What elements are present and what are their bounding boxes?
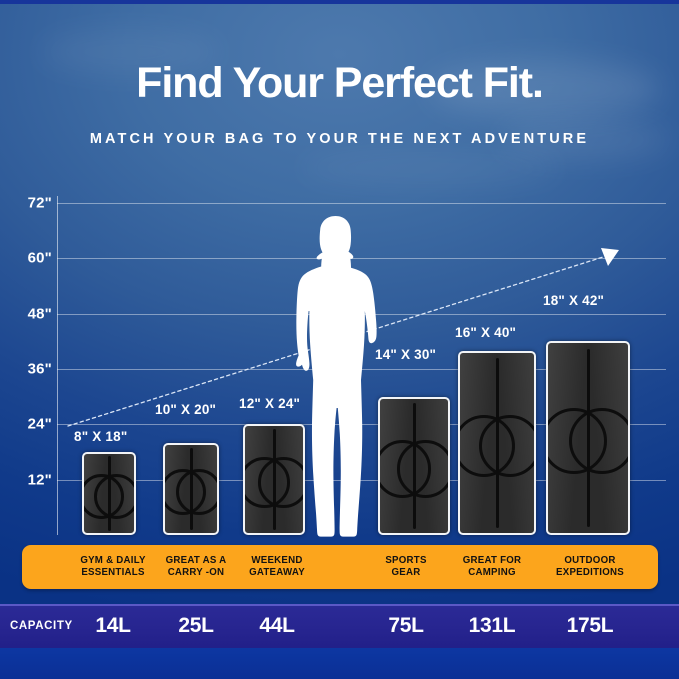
footer-band: [0, 648, 679, 679]
y-axis-tick-label: 72": [28, 195, 52, 212]
use-case-line-2: ESSENTIALS: [80, 567, 145, 580]
y-axis: [57, 196, 58, 535]
use-case-line-2: GEAR: [385, 567, 426, 580]
bag-seam: [587, 349, 590, 528]
capacity-value: 131L: [438, 604, 546, 648]
bag-dimension-label: 10" X 20": [155, 402, 216, 417]
y-axis-tick-label: 12": [28, 472, 52, 489]
use-case-line-2: GATEAWAY: [249, 567, 305, 580]
y-axis-tick-label: 24": [28, 416, 52, 433]
bag-dimension-label: 18" X 42": [543, 293, 604, 308]
bag-arc: [94, 474, 136, 519]
use-case-line-1: WEEKEND: [249, 555, 305, 568]
bag-seam: [496, 358, 499, 527]
y-axis-tick-label: 48": [28, 306, 52, 323]
bag-dimension-label: 8" X 18": [74, 429, 127, 444]
capacity-value: 44L: [223, 604, 331, 648]
use-case-line-1: SPORTS: [385, 555, 426, 568]
y-axis-tick-label: 60": [28, 250, 52, 267]
bag-seam: [273, 429, 276, 530]
bag-bar[interactable]: [82, 452, 136, 535]
bag-dimension-label: 16" X 40": [455, 325, 516, 340]
bag-arc: [479, 415, 536, 477]
bag-bar[interactable]: [546, 341, 630, 535]
y-axis-tick-label: 36": [28, 361, 52, 378]
bag-seam: [413, 403, 416, 529]
bag-seam: [190, 448, 193, 531]
infographic-canvas: Find Your Perfect Fit. MATCH YOUR BAG TO…: [0, 0, 679, 679]
bag-seam: [108, 456, 111, 530]
bag-arc: [397, 440, 450, 498]
gridline: [57, 203, 666, 204]
use-case-line-1: GREAT AS A: [166, 555, 227, 568]
use-case-line-2: CAMPING: [463, 567, 522, 580]
bag-bar[interactable]: [458, 351, 536, 535]
use-case-line-1: GYM & DAILY: [80, 555, 145, 568]
human-silhouette-icon: [278, 215, 396, 537]
use-case-cell: WEEKENDGATEAWAY: [223, 545, 331, 589]
use-case-cell: OUTDOOREXPEDITIONS: [536, 545, 644, 589]
use-case-cell: GREAT FORCAMPING: [438, 545, 546, 589]
bag-bar[interactable]: [163, 443, 219, 535]
use-case-line-2: EXPEDITIONS: [556, 567, 624, 580]
bag-arc: [176, 469, 219, 515]
use-case-line-2: CARRY -ON: [166, 567, 227, 580]
use-case-line-1: OUTDOOR: [556, 555, 624, 568]
use-case-line-1: GREAT FOR: [463, 555, 522, 568]
bag-arc: [569, 408, 630, 474]
use-case-banner: GYM & DAILYESSENTIALSGREAT AS ACARRY -ON…: [22, 545, 658, 589]
capacity-value: 175L: [536, 604, 644, 648]
